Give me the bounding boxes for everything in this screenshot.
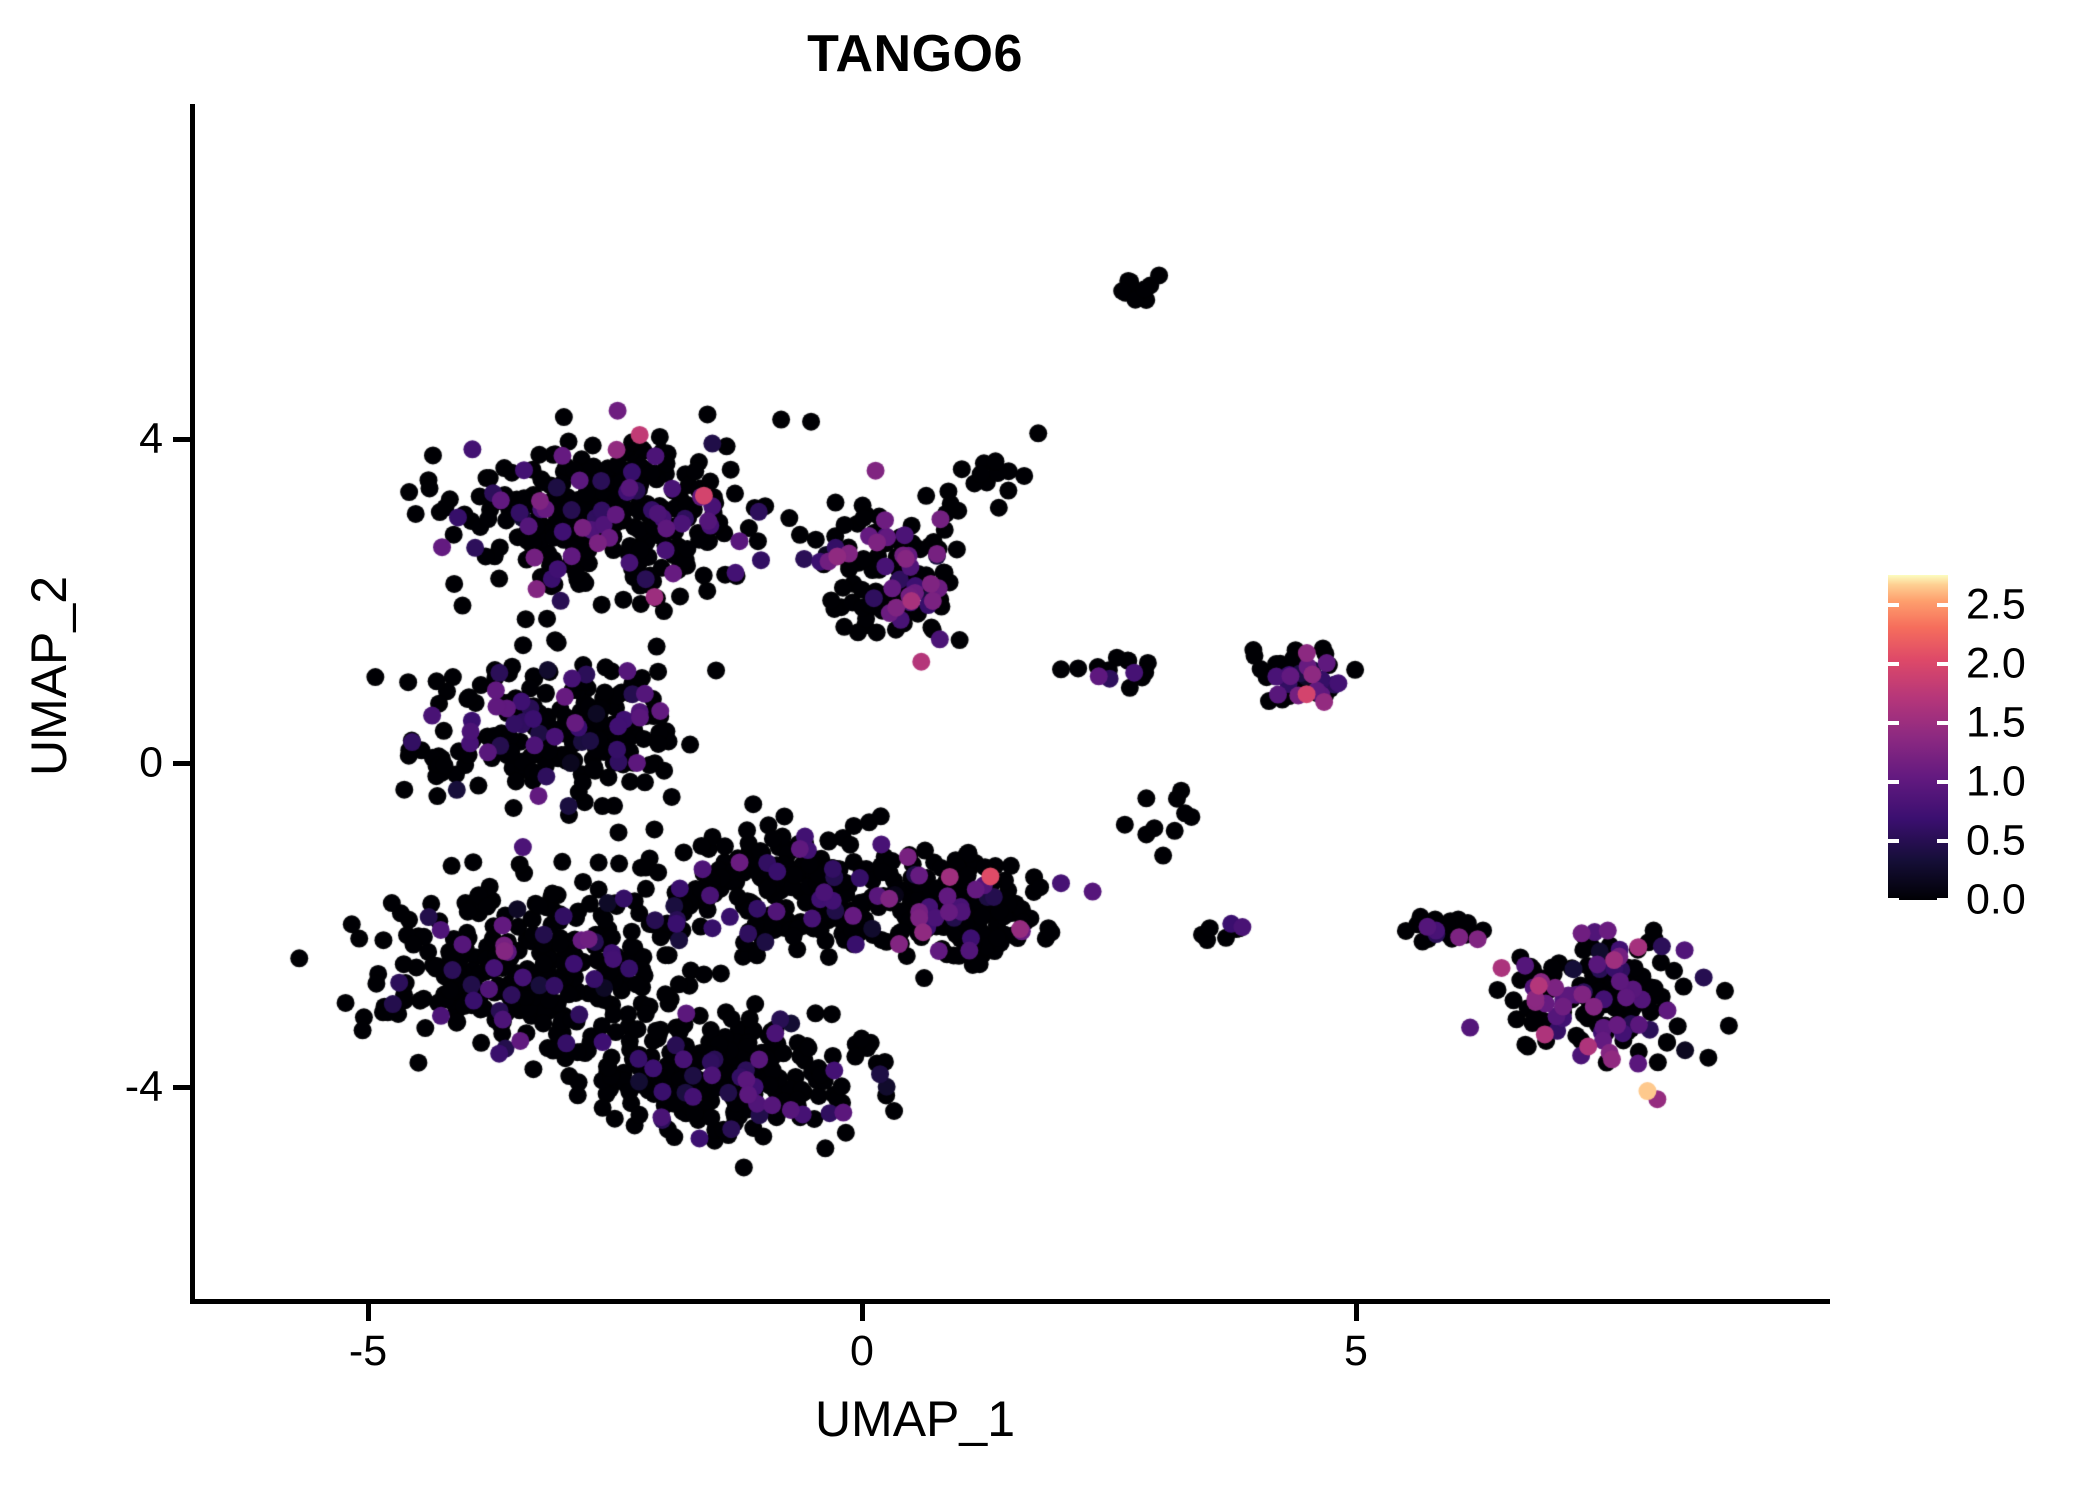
x-tick-label: 5 [1344,1327,1368,1376]
x-tick-mark [860,1304,865,1321]
y-tick-label: 4 [139,415,163,464]
colorbar-tick-mark [1888,780,1899,784]
x-axis-line [190,1299,1830,1304]
colorbar-tick-mark [1937,662,1948,666]
scatter-plot-canvas [0,0,2100,1500]
y-tick-mark [173,761,190,766]
colorbar-tick-label: 2.5 [1966,580,2026,629]
colorbar-tick-mark [1937,839,1948,843]
colorbar-tick-mark [1937,603,1948,607]
x-tick-mark [1354,1304,1359,1321]
x-tick-mark [366,1304,371,1321]
colorbar-tick-mark [1937,898,1948,902]
colorbar-tick-label: 1.0 [1966,757,2026,806]
colorbar-tick-mark [1888,839,1899,843]
colorbar-tick-mark [1937,721,1948,725]
colorbar-tick-mark [1888,662,1899,666]
colorbar-tick-label: 0.0 [1966,876,2026,925]
y-axis-line [190,104,195,1303]
y-tick-label: -4 [125,1063,163,1112]
colorbar-tick-label: 0.5 [1966,816,2026,865]
y-axis-title: UMAP_2 [20,396,78,956]
x-tick-label: -5 [349,1327,387,1376]
colorbar-tick-label: 2.0 [1966,639,2026,688]
colorbar-gradient [1888,575,1948,900]
y-tick-label: 0 [139,739,163,788]
y-tick-mark [173,1085,190,1090]
umap-feature-plot: TANGO6 -404-505 UMAP_1 UMAP_2 0.00.51.01… [0,0,2100,1500]
colorbar-tick-label: 1.5 [1966,698,2026,747]
x-axis-title: UMAP_1 [0,1390,1830,1448]
colorbar-tick-mark [1937,780,1948,784]
colorbar-tick-mark [1888,603,1899,607]
x-tick-label: 0 [850,1327,874,1376]
y-tick-mark [173,437,190,442]
colorbar-tick-mark [1888,721,1899,725]
colorbar-tick-mark [1888,898,1899,902]
page-title: TANGO6 [0,24,1830,84]
